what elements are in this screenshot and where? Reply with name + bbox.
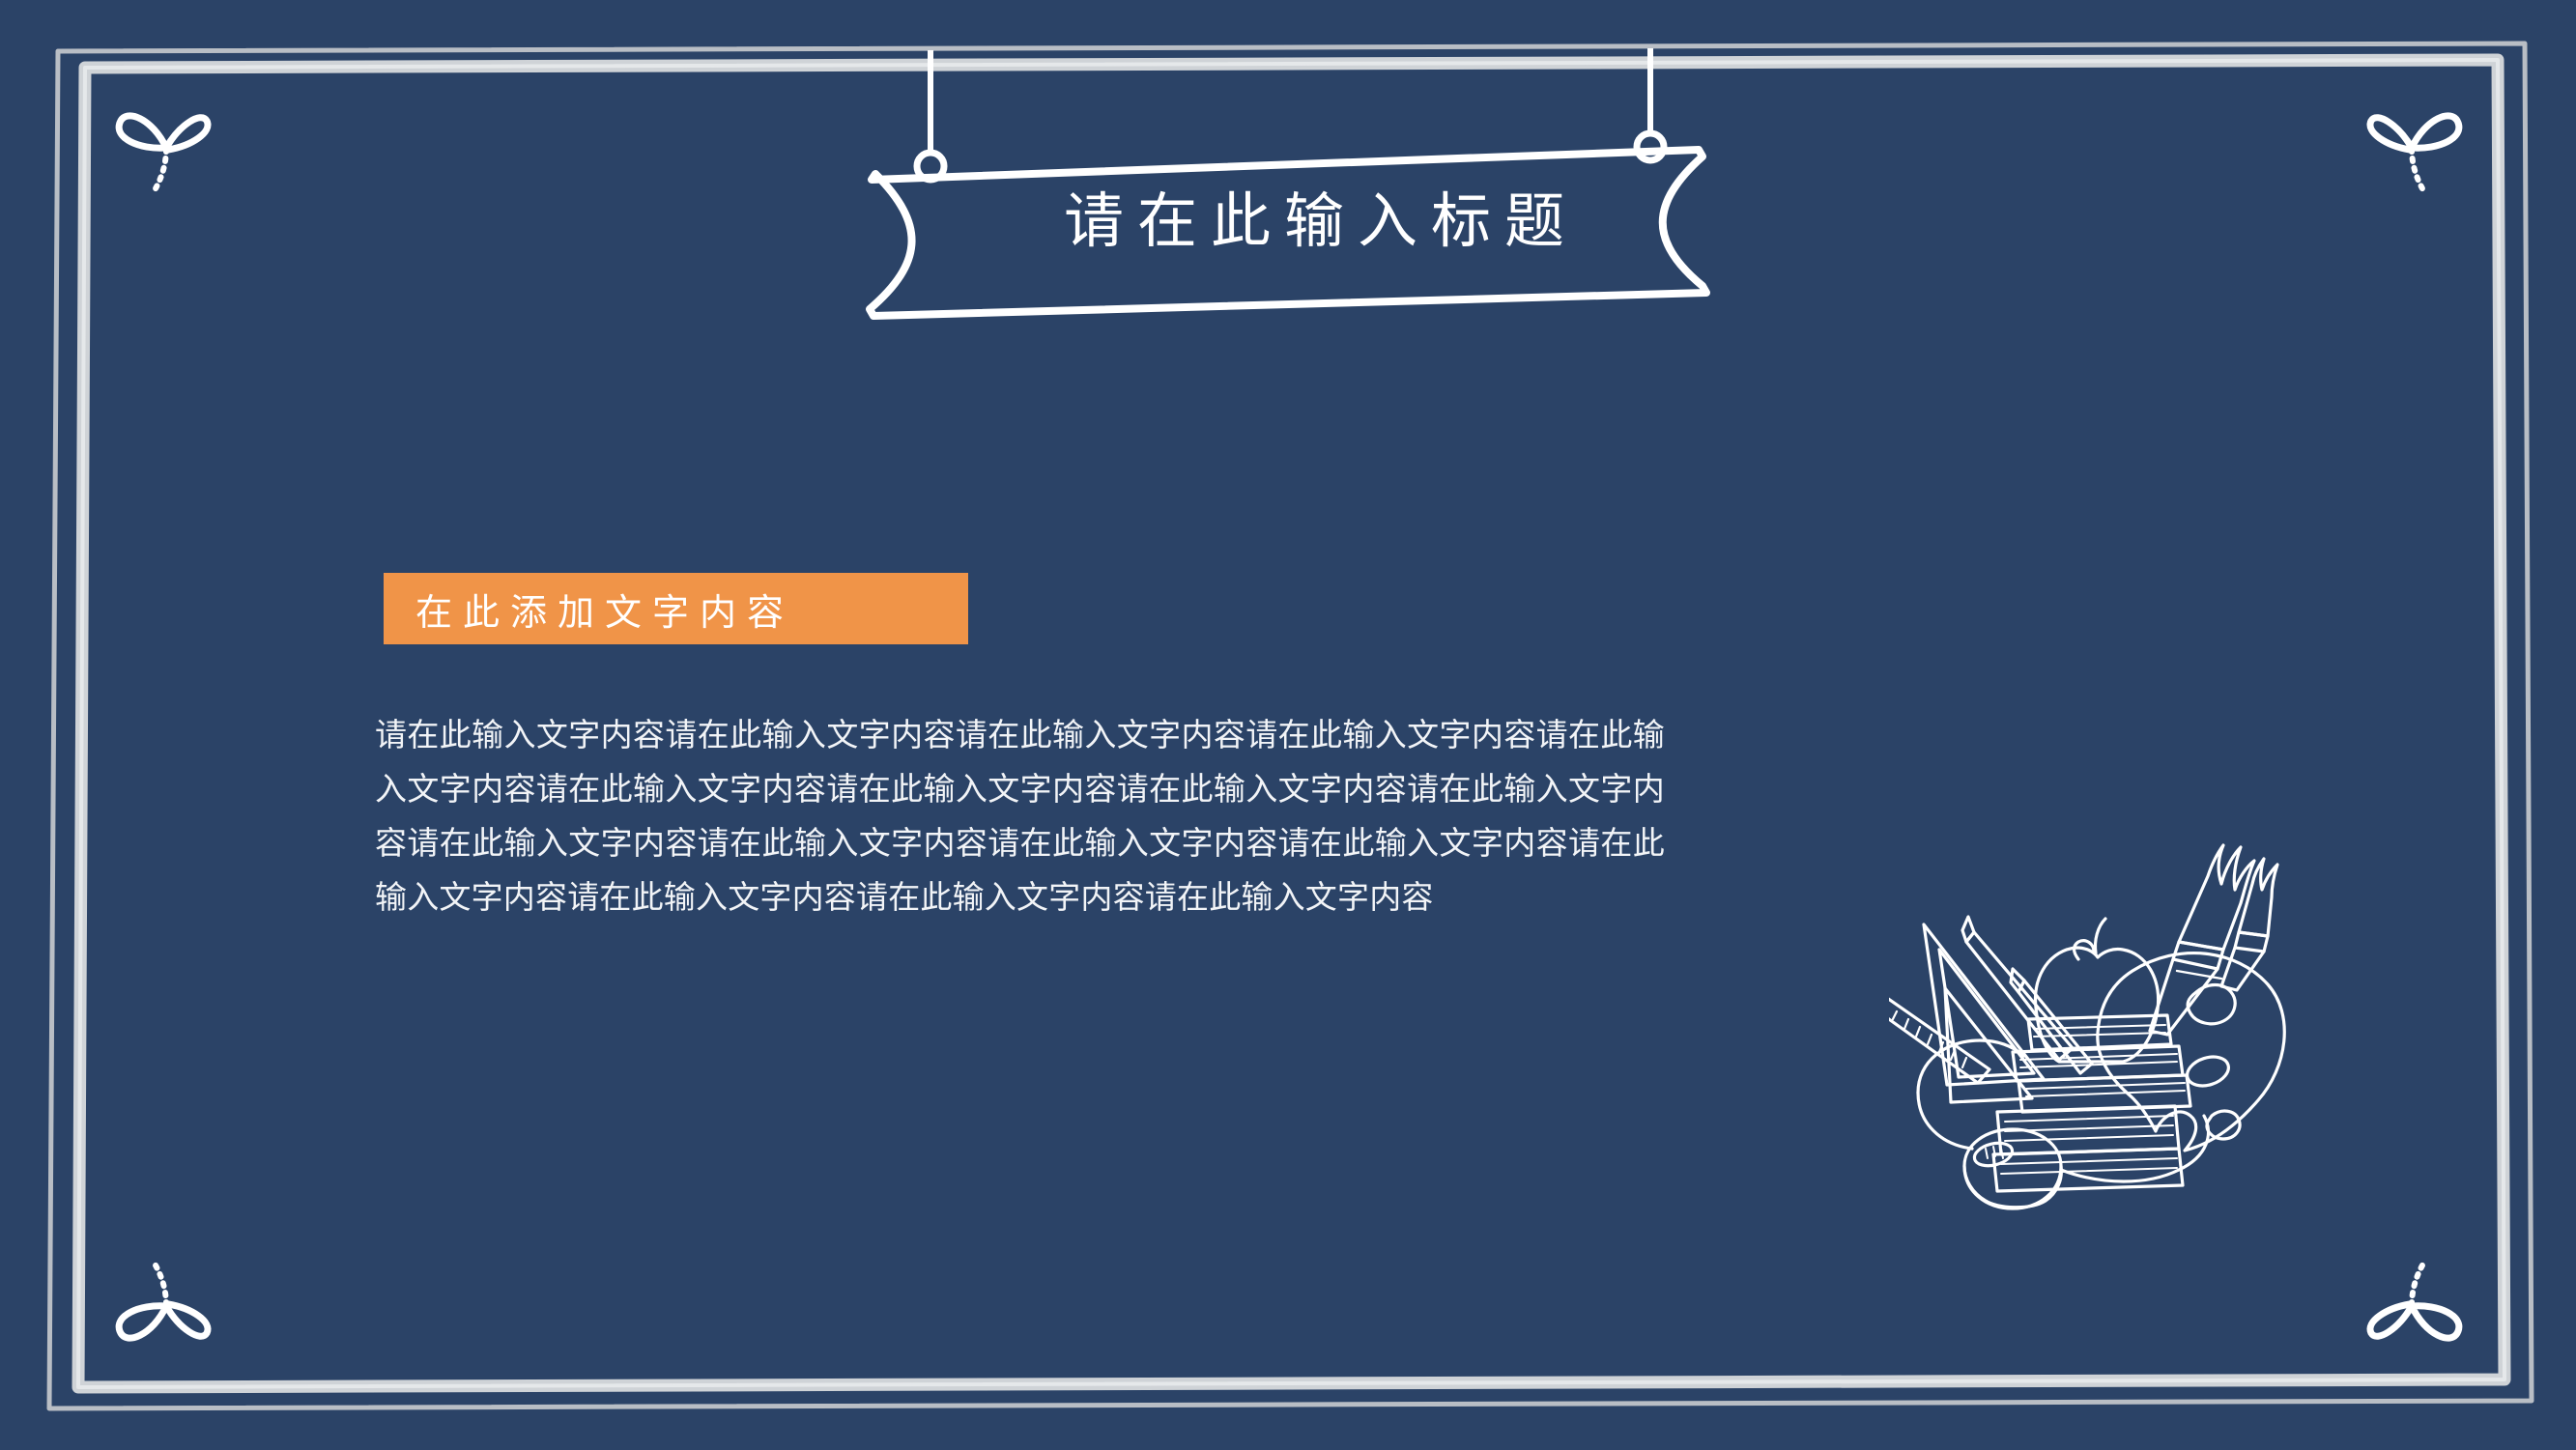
- set-square-icon: [1924, 924, 2044, 1085]
- pencil-icon: [1962, 917, 2073, 1060]
- title-banner: 请在此输入标题: [0, 0, 2576, 386]
- corner-bottom-left-decoration: [106, 1246, 232, 1372]
- chalk-bow-icon: [119, 1264, 208, 1338]
- chalk-bow-icon: [2370, 1264, 2459, 1338]
- body-paragraph: 请在此输入文字内容请在此输入文字内容请在此输入文字内容请在此输入文字内容请在此输…: [375, 708, 1665, 924]
- hanger-ring-right-icon: [1637, 133, 1664, 160]
- section-heading-bar: 在此添加文字内容: [384, 573, 968, 644]
- paint-brush-icon: [2150, 845, 2254, 1035]
- corner-bottom-right-decoration: [2346, 1246, 2472, 1372]
- school-supplies-illustration: [1889, 826, 2295, 1232]
- paint-palette-icon: [2098, 953, 2284, 1151]
- page-title: 请在此输入标题: [995, 172, 1633, 259]
- book-stack-icon: [1993, 1015, 2190, 1191]
- section-heading-label: 在此添加文字内容: [384, 583, 794, 636]
- slide-canvas: 请在此输入标题 在此添加文字内容 请在此输入文字内容请在此输入文字内容请在此输入…: [0, 0, 2576, 1450]
